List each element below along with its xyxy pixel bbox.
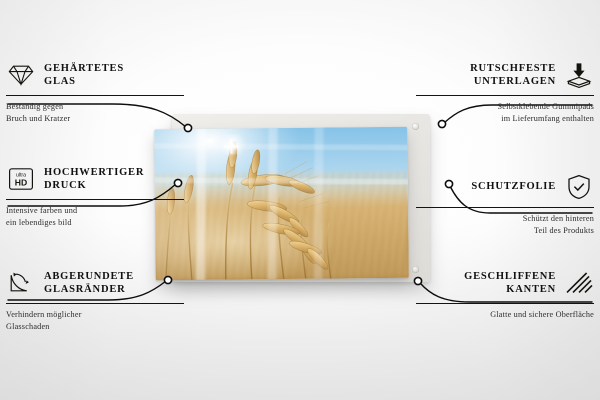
feature-title: SCHUTZFOLIE [471, 180, 556, 193]
feature-header: SCHUTZFOLIE [416, 170, 594, 204]
feature-header: ABGERUNDETE GLASRÄNDER [6, 266, 184, 300]
feature-title-line1: ABGERUNDETE [44, 270, 134, 283]
feature-subtitle: Selbstklebende Gummipads im Lieferumfang… [416, 101, 594, 125]
sun-sparkle-icon [230, 139, 232, 153]
feature-subtitle-line1: Intensive farben und [6, 205, 184, 217]
feature-subtitle-line2: Glasschaden [6, 321, 184, 333]
ultra-hd-badge-icon: ultra HD [6, 164, 36, 194]
feature-title-line2: GLAS [44, 75, 124, 88]
feature-rounded-glass-edges: ABGERUNDETE GLASRÄNDER Verhindern möglic… [6, 266, 184, 333]
feature-title-line2: DRUCK [44, 179, 144, 192]
diamond-icon [6, 60, 36, 90]
feature-subtitle-line2: im Lieferumfang enthalten [416, 113, 594, 125]
feature-subtitle-line1: Bestandig gegen [6, 101, 184, 113]
feature-subtitle-line1: Selbstklebende Gummipads [416, 101, 594, 113]
feature-protective-film: SCHUTZFOLIE Schützt den hinteren Teil de… [416, 170, 594, 237]
feature-title: GESCHLIFFENE KANTEN [464, 270, 556, 297]
feature-subtitle: Bestandig gegen Bruch und Kratzer [6, 101, 184, 125]
feature-divider [6, 95, 184, 96]
product-feature-infographic: GEHÄRTETES GLAS Bestandig gegen Bruch un… [0, 0, 600, 400]
feature-subtitle-line1: Glatte und sichere Oberfläche [416, 309, 594, 321]
feature-subtitle-line2: Bruch und Kratzer [6, 113, 184, 125]
feature-header: GESCHLIFFENE KANTEN [416, 266, 594, 300]
feature-subtitle: Verhindern möglicher Glasschaden [6, 309, 184, 333]
feature-header: ultra HD HOCHWERTIGER DRUCK [6, 162, 184, 196]
feature-divider [416, 303, 594, 304]
wheat-stalks-illustration [154, 127, 409, 281]
arrow-down-onto-pad-icon [564, 60, 594, 90]
feature-title-line1: GESCHLIFFENE [464, 270, 556, 283]
feature-title: GEHÄRTETES GLAS [44, 62, 124, 89]
feature-divider [6, 199, 184, 200]
feature-subtitle: Intensive farben und ein lebendiges bild [6, 205, 184, 229]
feature-polished-edges: GESCHLIFFENE KANTEN Glatte und sichere O… [416, 266, 594, 321]
feature-subtitle-line2: ein lebendiges bild [6, 217, 184, 229]
svg-text:HD: HD [15, 178, 27, 188]
feature-title-line1: RUTSCHFESTE [470, 62, 556, 75]
diagonal-hatch-icon [564, 268, 594, 298]
feature-subtitle-line2: Teil des Produkts [416, 225, 594, 237]
feature-title-line1: SCHUTZFOLIE [471, 180, 556, 193]
rounded-corner-icon [6, 268, 36, 298]
feature-divider [6, 303, 184, 304]
product-image [172, 114, 430, 282]
feature-subtitle-line1: Verhindern möglicher [6, 309, 184, 321]
feature-title: ABGERUNDETE GLASRÄNDER [44, 270, 134, 297]
feature-title-line2: KANTEN [464, 283, 556, 296]
feature-subtitle: Glatte und sichere Oberfläche [416, 309, 594, 321]
feature-header: RUTSCHFESTE UNTERLAGEN [416, 58, 594, 92]
feature-subtitle: Schützt den hinteren Teil des Produkts [416, 213, 594, 237]
feature-title-line2: UNTERLAGEN [470, 75, 556, 88]
feature-title: HOCHWERTIGER DRUCK [44, 166, 144, 193]
wheat-field-photo [154, 127, 409, 281]
feature-title: RUTSCHFESTE UNTERLAGEN [470, 62, 556, 89]
shield-check-icon [564, 172, 594, 202]
feature-high-quality-print: ultra HD HOCHWERTIGER DRUCK Intensive fa… [6, 162, 184, 229]
feature-header: GEHÄRTETES GLAS [6, 58, 184, 92]
feature-title-line1: GEHÄRTETES [44, 62, 124, 75]
feature-title-line2: GLASRÄNDER [44, 283, 134, 296]
feature-non-slip-pads: RUTSCHFESTE UNTERLAGEN Selbstklebende Gu… [416, 58, 594, 125]
feature-subtitle-line1: Schützt den hinteren [416, 213, 594, 225]
feature-divider [416, 95, 594, 96]
feature-title-line1: HOCHWERTIGER [44, 166, 144, 179]
feature-divider [416, 207, 594, 208]
feature-tempered-glass: GEHÄRTETES GLAS Bestandig gegen Bruch un… [6, 58, 184, 125]
